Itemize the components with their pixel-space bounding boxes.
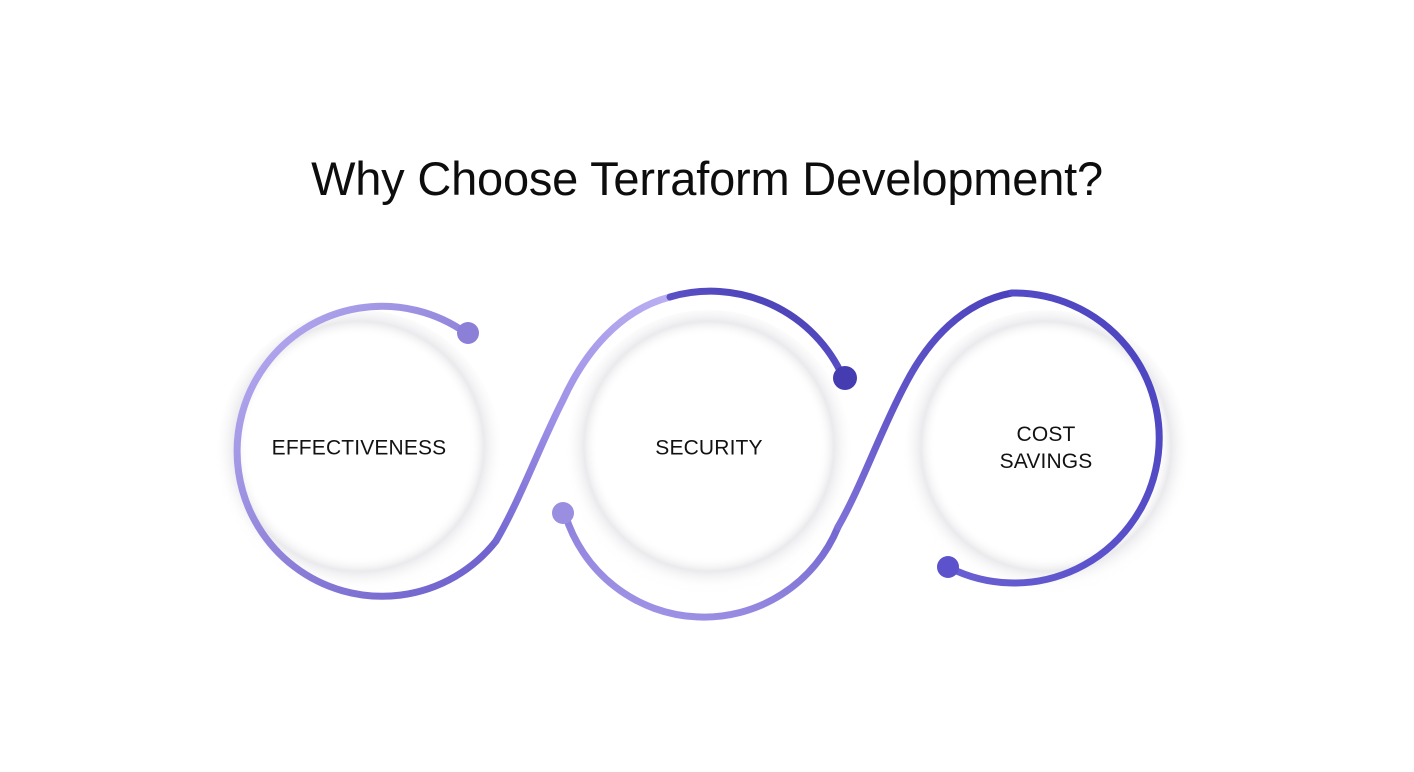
- endpoint-dot-security[interactable]: [833, 366, 857, 390]
- ring-shadow-effectiveness: [217, 310, 501, 594]
- infographic-canvas: Why Choose Terraform Development?: [0, 0, 1414, 772]
- endpoint-dot-effectiveness[interactable]: [457, 322, 479, 344]
- ring-shadow-cost-savings: [904, 310, 1188, 594]
- endpoint-dot-cost-savings[interactable]: [937, 556, 959, 578]
- start-dot-security[interactable]: [552, 502, 574, 524]
- ring-shadow-security: [567, 310, 851, 594]
- ring-shadows: [217, 310, 1188, 594]
- s-curve-diagram: [0, 0, 1414, 772]
